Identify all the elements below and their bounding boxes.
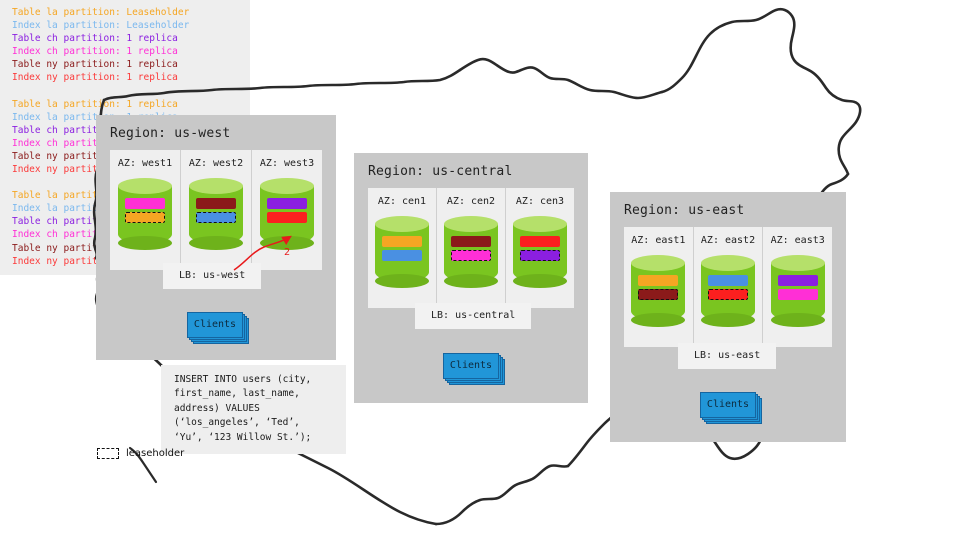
region-title-us-central: Region: us-central	[354, 153, 588, 188]
sql-statement-box: INSERT INTO users (city, first_name, las…	[161, 365, 346, 454]
cylinder-top	[260, 178, 314, 194]
legend-line: Table ch partition: 1 replica	[12, 32, 240, 45]
replica-bar	[451, 236, 491, 247]
replica-bar-leaseholder	[520, 250, 560, 261]
replica-bar	[520, 236, 560, 247]
az-label: AZ: cen3	[506, 196, 574, 207]
leaseholder-legend: leaseholder	[97, 448, 184, 459]
cylinder-top	[513, 216, 567, 232]
az-label: AZ: cen1	[368, 196, 436, 207]
replica-bar	[778, 275, 818, 286]
az-label: AZ: east2	[694, 235, 763, 246]
replica-bar	[708, 275, 748, 286]
replica-bars	[778, 275, 818, 303]
database-node-icon[interactable]	[118, 178, 172, 250]
clients-us-east[interactable]: Clients	[700, 392, 756, 418]
clients-label-us-east: Clients	[700, 392, 756, 418]
cylinder-top	[631, 255, 685, 271]
replica-bars	[638, 275, 678, 303]
cylinder-bottom	[701, 313, 755, 327]
cylinder-bottom	[771, 313, 825, 327]
replica-bar-leaseholder	[125, 212, 165, 223]
az-label: AZ: west1	[110, 158, 180, 169]
cylinder-bottom	[513, 274, 567, 288]
cylinder-top	[189, 178, 243, 194]
az-column: AZ: east3	[762, 227, 832, 347]
cylinder-bottom	[631, 313, 685, 327]
az-label: AZ: east3	[763, 235, 832, 246]
database-node-icon[interactable]	[771, 255, 825, 327]
replica-bar-leaseholder	[638, 289, 678, 300]
cylinder-top	[701, 255, 755, 271]
replica-bar	[267, 212, 307, 223]
cylinder-bottom	[189, 236, 243, 250]
replica-bar	[382, 236, 422, 247]
annotation-number-2: 2	[284, 247, 290, 258]
cylinder-bottom	[118, 236, 172, 250]
clients-us-west[interactable]: Clients	[187, 312, 243, 338]
cylinder-bottom	[375, 274, 429, 288]
database-node-icon[interactable]	[260, 178, 314, 250]
replica-bars	[196, 198, 236, 226]
az-column: AZ: east2	[693, 227, 763, 347]
cylinder-bottom	[444, 274, 498, 288]
replica-bars	[520, 236, 560, 264]
lb-us-east[interactable]: LB: us-east	[678, 343, 776, 369]
legend-line: Table la partition: Leaseholder	[12, 6, 240, 19]
region-title-us-east: Region: us-east	[610, 192, 846, 227]
region-title-us-west: Region: us-west	[96, 115, 336, 150]
az-label: AZ: west3	[252, 158, 322, 169]
replica-bar	[267, 198, 307, 209]
az-row-us-central: AZ: cen1AZ: cen2AZ: cen3	[368, 188, 574, 308]
diagram-canvas: Table la partition: LeaseholderIndex la …	[0, 0, 960, 540]
cylinder-top	[375, 216, 429, 232]
replica-bar-leaseholder	[708, 289, 748, 300]
replica-bar-leaseholder	[451, 250, 491, 261]
legend-us-west: Table la partition: LeaseholderIndex la …	[0, 0, 250, 92]
replica-bars	[382, 236, 422, 264]
clients-us-central[interactable]: Clients	[443, 353, 499, 379]
database-node-icon[interactable]	[189, 178, 243, 250]
legend-line: Table ny partition: 1 replica	[12, 58, 240, 71]
database-node-icon[interactable]	[444, 216, 498, 288]
replica-bars	[708, 275, 748, 303]
az-label: AZ: cen2	[437, 196, 505, 207]
replica-bar	[638, 275, 678, 286]
cylinder-top	[444, 216, 498, 232]
az-column: AZ: cen1	[368, 188, 436, 308]
replica-bars	[125, 198, 165, 226]
database-node-icon[interactable]	[513, 216, 567, 288]
legend-line: Index ny partition: 1 replica	[12, 71, 240, 84]
database-node-icon[interactable]	[375, 216, 429, 288]
az-column: AZ: east1	[624, 227, 693, 347]
az-column: AZ: west1	[110, 150, 180, 270]
az-column: AZ: west2	[180, 150, 251, 270]
replica-bar	[382, 250, 422, 261]
database-node-icon[interactable]	[631, 255, 685, 327]
replica-bars	[267, 198, 307, 226]
legend-line: Index ch partition: 1 replica	[12, 45, 240, 58]
legend-line: Index la partition: Leaseholder	[12, 19, 240, 32]
replica-bar-leaseholder	[196, 212, 236, 223]
lb-us-west[interactable]: LB: us-west	[163, 263, 261, 289]
cylinder-top	[771, 255, 825, 271]
clients-label-us-west: Clients	[187, 312, 243, 338]
dashed-box-icon	[97, 448, 119, 459]
replica-bar	[778, 289, 818, 300]
az-label: AZ: east1	[624, 235, 693, 246]
replica-bar	[196, 198, 236, 209]
az-label: AZ: west2	[181, 158, 251, 169]
leaseholder-legend-label: leaseholder	[126, 448, 184, 459]
cylinder-top	[118, 178, 172, 194]
az-row-us-west: AZ: west1AZ: west2AZ: west3	[110, 150, 322, 270]
replica-bar	[125, 198, 165, 209]
az-column: AZ: cen3	[505, 188, 574, 308]
clients-label-us-central: Clients	[443, 353, 499, 379]
az-row-us-east: AZ: east1AZ: east2AZ: east3	[624, 227, 832, 347]
database-node-icon[interactable]	[701, 255, 755, 327]
legend-line: Table la partition: 1 replica	[12, 98, 240, 111]
lb-us-central[interactable]: LB: us-central	[415, 303, 531, 329]
replica-bars	[451, 236, 491, 264]
az-column: AZ: cen2	[436, 188, 505, 308]
